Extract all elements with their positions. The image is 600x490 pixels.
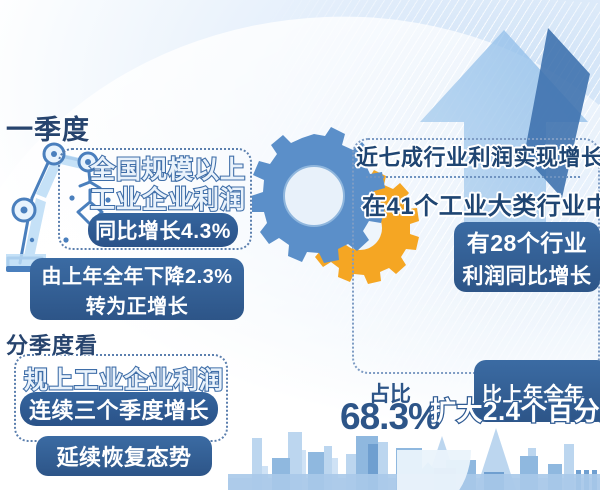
panel-expanded-note-line2: 扩大2.4个百分点 bbox=[430, 391, 600, 428]
right-heading: 近七成行业利润实现增长 bbox=[356, 140, 600, 172]
section-title-quarter: 一季度 bbox=[6, 108, 90, 147]
panel-recovery-trend[interactable]: 延续恢复态势 bbox=[36, 436, 212, 476]
panel-28-industries-line2: 利润同比增长 bbox=[463, 260, 592, 290]
pill-yoy-growth[interactable]: 同比增长4.3% bbox=[88, 213, 238, 247]
infographic-canvas: 一季度 全国规模以上 工业企业利润 同比增长4.3% 由上年全年下降2.3% 转… bbox=[0, 0, 600, 490]
right-heading-divider bbox=[366, 176, 580, 178]
pill-three-quarters-growth[interactable]: 连续三个季度增长 bbox=[20, 392, 218, 426]
left-block-a-line2: 工业企业利润 bbox=[90, 180, 246, 216]
panel-28-industries[interactable]: 有28个行业 利润同比增长 bbox=[454, 222, 600, 292]
left-block-c-line1: 规上工业企业利润 bbox=[24, 360, 224, 395]
panel-turned-positive[interactable]: 由上年全年下降2.3% 转为正增长 bbox=[30, 258, 244, 320]
section-title-by-quarter: 分季度看 bbox=[6, 328, 98, 360]
pill-three-quarters-growth-text: 连续三个季度增长 bbox=[29, 393, 209, 425]
pill-yoy-growth-text: 同比增长4.3% bbox=[95, 215, 231, 245]
panel-recovery-trend-text: 延续恢复态势 bbox=[56, 440, 191, 472]
panel-28-industries-line1: 有28个行业 bbox=[467, 224, 588, 258]
panel-turned-positive-line1: 由上年全年下降2.3% bbox=[41, 260, 232, 289]
right-subheading: 在41个工业大类行业中 bbox=[362, 186, 600, 221]
panel-turned-positive-line2: 转为正增长 bbox=[86, 290, 189, 319]
